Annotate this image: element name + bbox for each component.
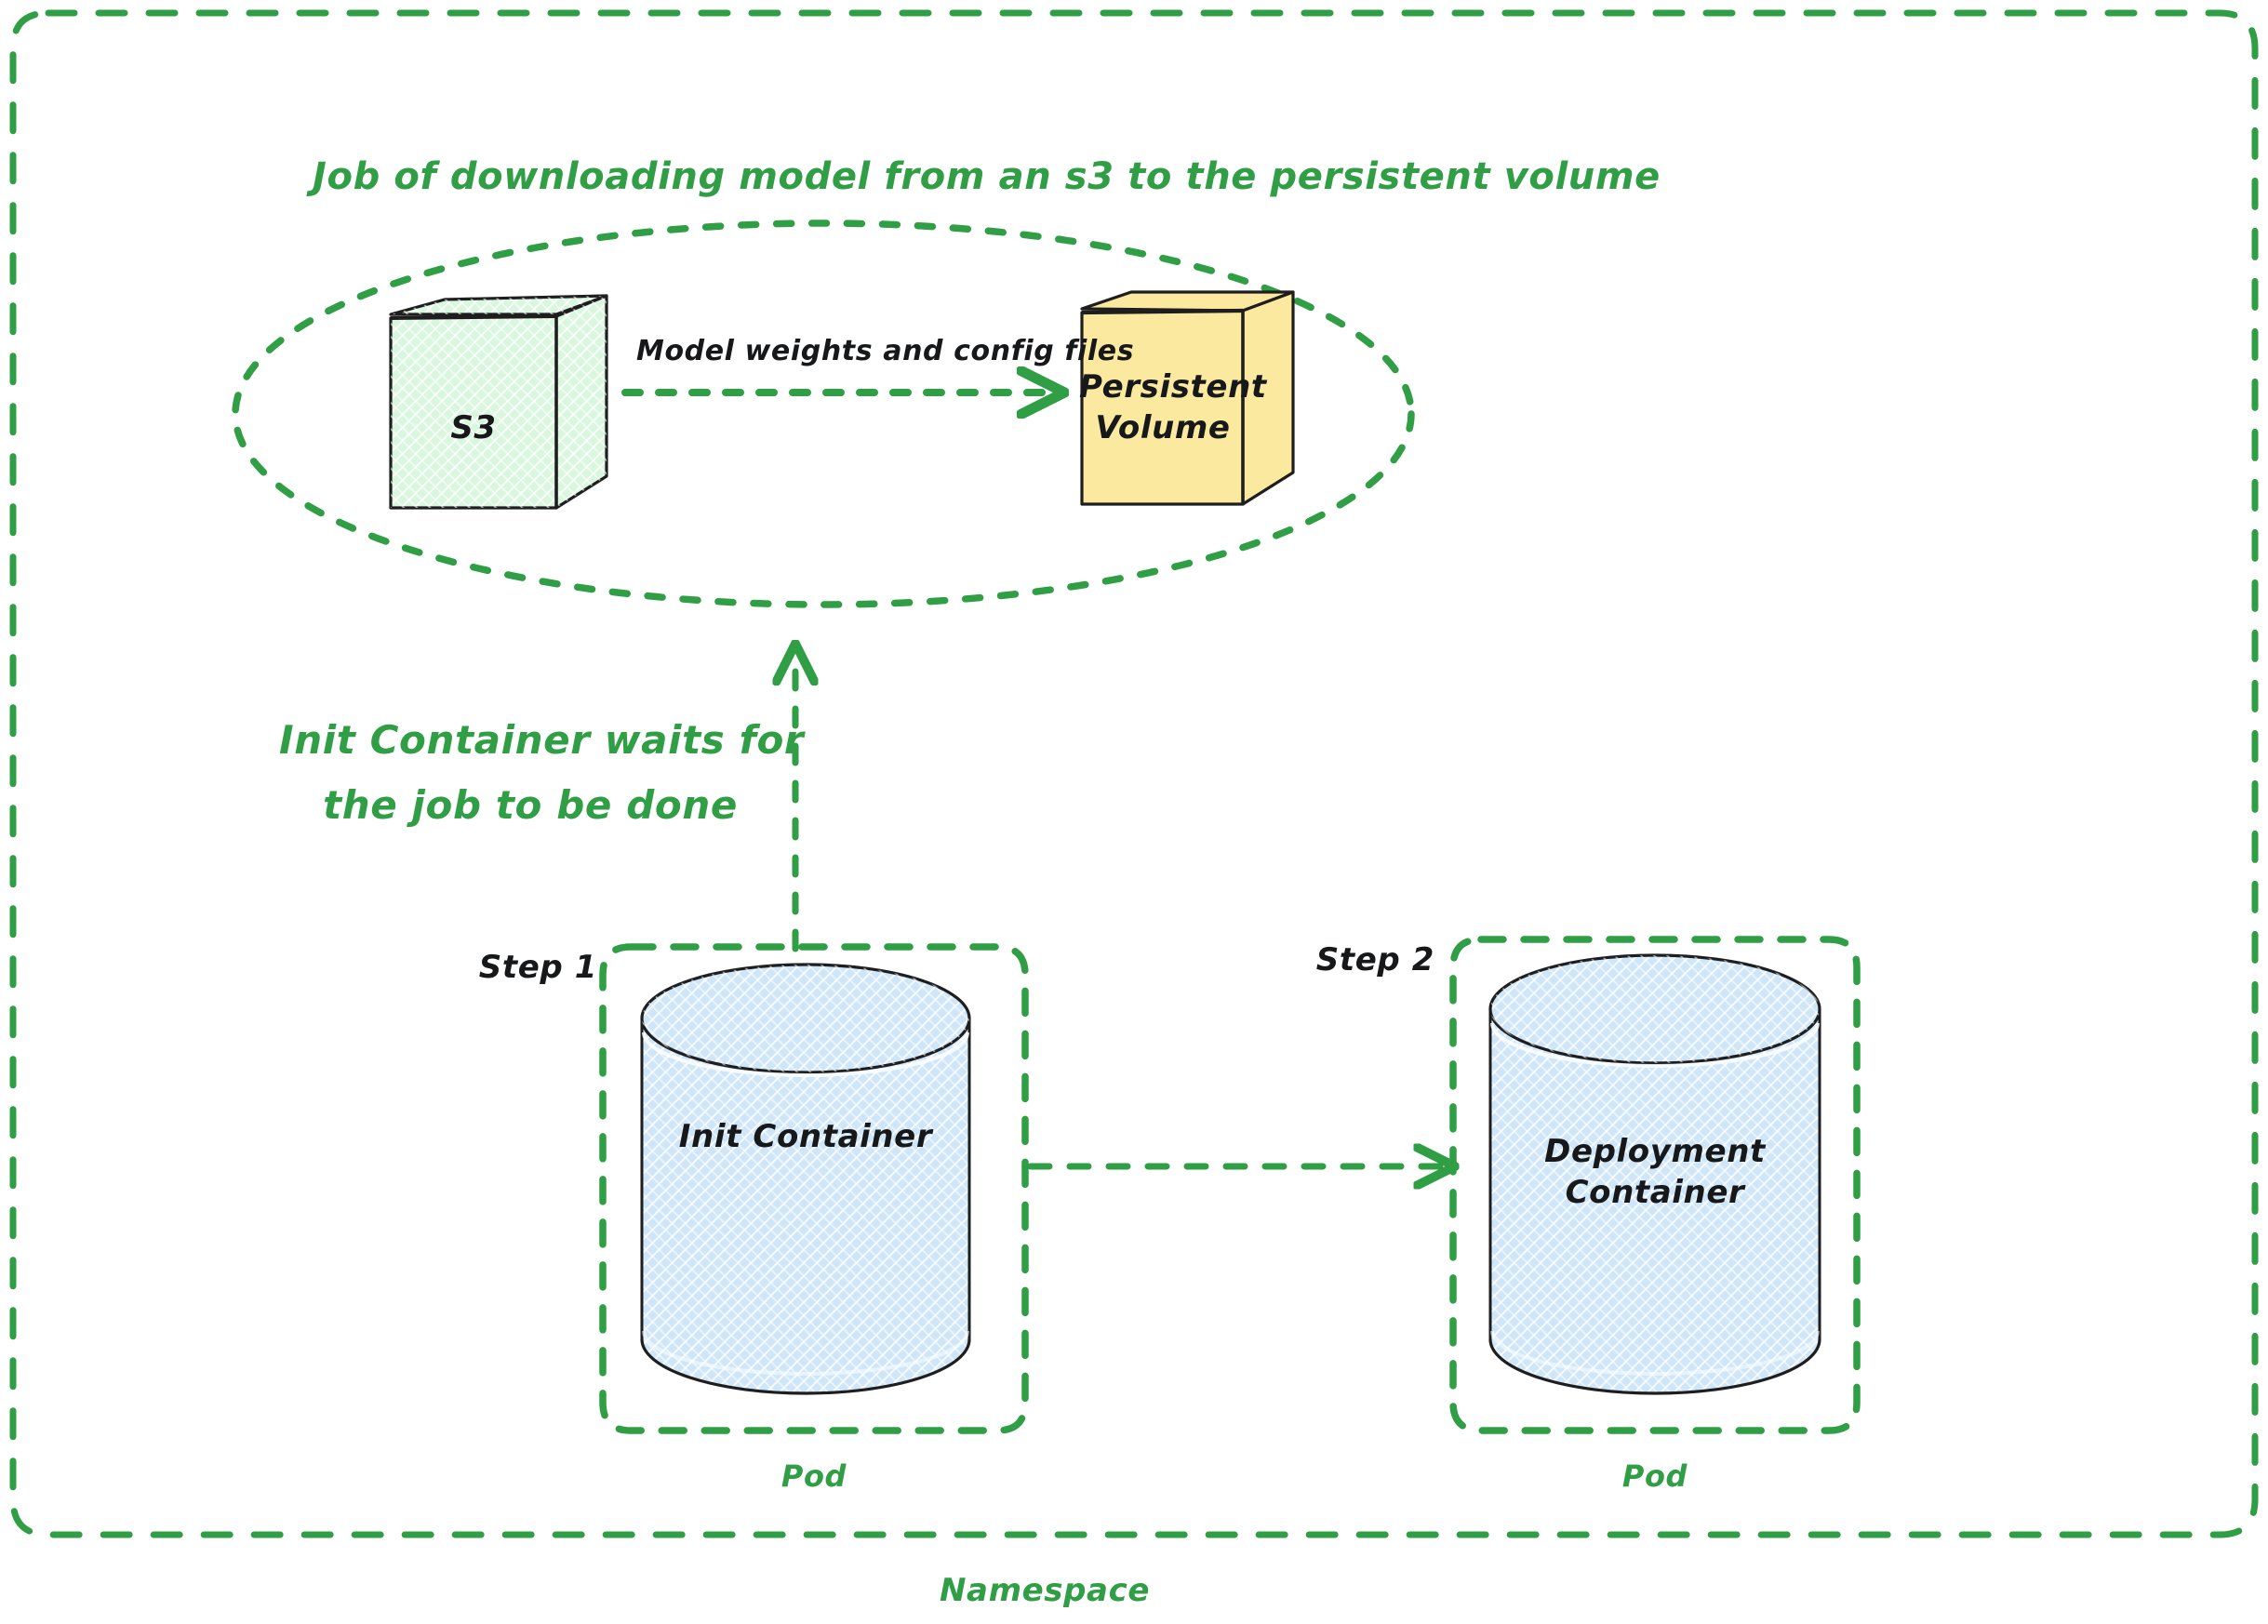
diagram-canvas: Job of downloading model from an s3 to t… [0,0,2268,1624]
diagram-vector-layer [0,0,2268,1624]
s3-cube [391,296,607,508]
init-container-cylinder [642,965,969,1393]
deployment-container-cylinder [1490,955,1820,1393]
namespace-boundary [13,13,2255,1535]
persistent-volume-cube [1082,292,1293,504]
